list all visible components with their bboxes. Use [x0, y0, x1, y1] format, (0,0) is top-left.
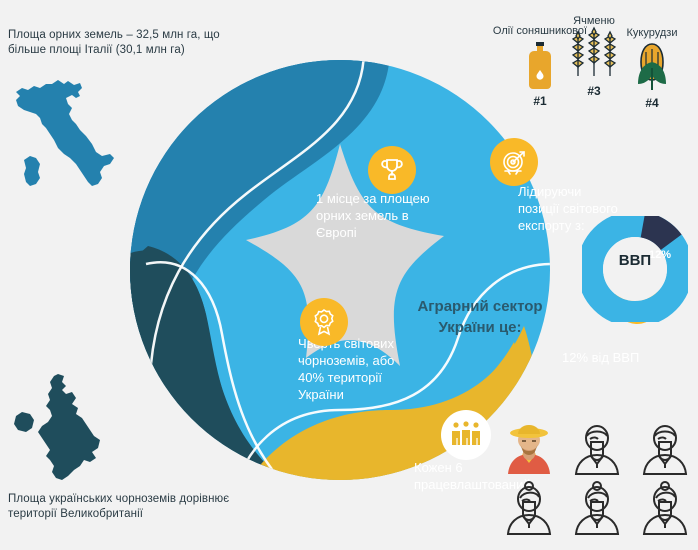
italy-map — [6, 78, 118, 193]
caption-arable-land: Площа орних земель – 32,5 млн га, що біл… — [8, 28, 238, 58]
export-item-corn-label: Кукурудзи — [604, 26, 698, 40]
segment-text-gdp: 12% від ВВП — [562, 349, 682, 366]
person-outline-icon — [568, 420, 626, 476]
center-title-line1: Аграрний сектор — [390, 296, 570, 317]
person-outline-icon — [568, 480, 626, 536]
people-group-icon — [441, 410, 491, 460]
award-medal-icon — [300, 298, 348, 346]
farmer-with-hat-icon — [500, 420, 558, 476]
person-outline-icon — [636, 480, 694, 536]
person-outline-icon — [636, 420, 694, 476]
corn-cob-icon — [604, 40, 698, 92]
center-title-line2: України це: — [390, 317, 570, 338]
export-item-corn-rank: #4 — [604, 96, 698, 110]
infographic-canvas: Площа орних земель – 32,5 млн га, що біл… — [0, 0, 698, 550]
target-icon — [490, 138, 538, 186]
export-item-corn: Кукурудзи #4 — [604, 26, 698, 110]
center-title: Аграрний сектор України це: — [390, 296, 570, 338]
caption-chernozem: Площа українських чорноземів дорівнює те… — [8, 492, 248, 522]
uk-map — [8, 372, 108, 484]
main-circle-diagram: 1 місце за площею орних земель в Європі … — [128, 58, 552, 482]
segment-text-chernozem: Чверть світових чорноземів, або 40% тери… — [298, 335, 413, 403]
trophy-icon — [368, 146, 416, 194]
donut-center-label: ВВП — [582, 252, 688, 269]
employment-people-group — [500, 420, 696, 540]
gdp-donut-chart: 12% — [582, 216, 688, 322]
segment-text-europe: 1 місце за площею орних земель в Європі — [316, 190, 446, 241]
person-outline-icon — [500, 480, 558, 536]
